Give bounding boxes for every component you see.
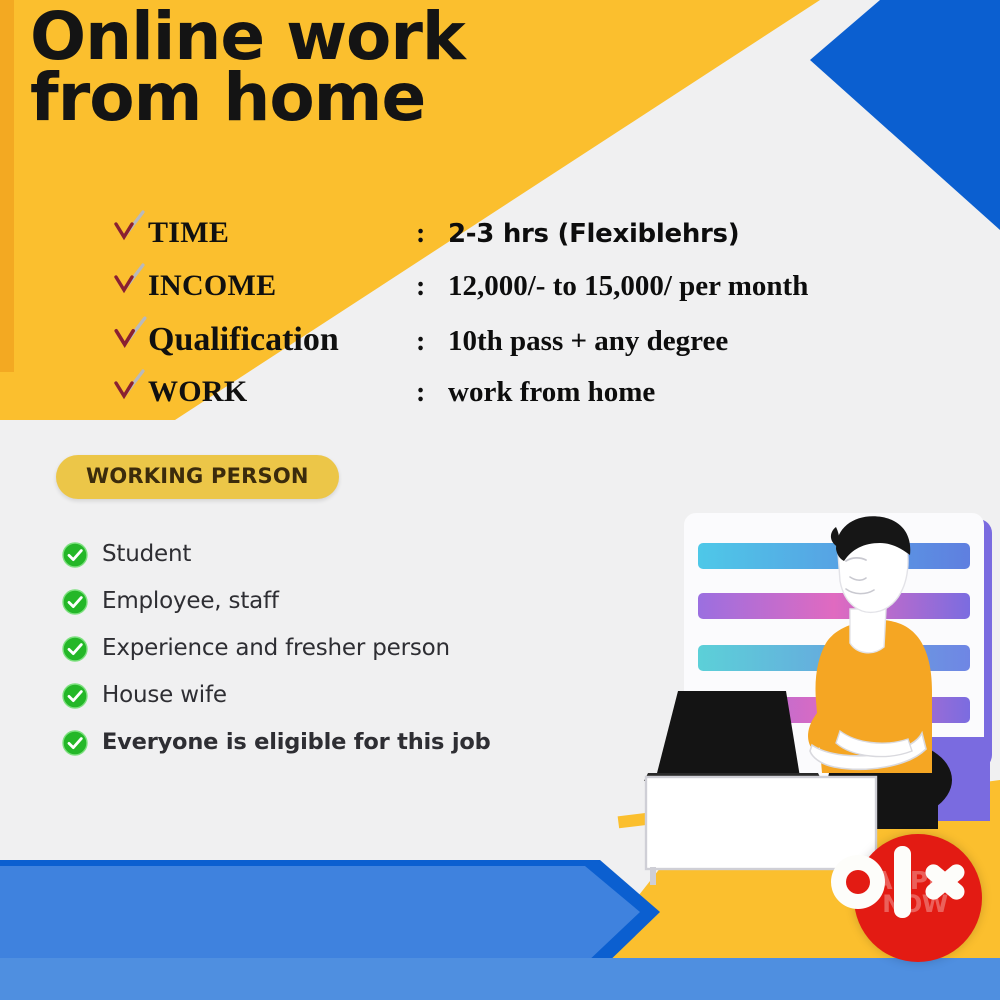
green-check-circle-icon: [62, 730, 88, 756]
detail-row-work: WORK : work from home: [112, 367, 992, 420]
green-check-circle-icon: [62, 683, 88, 709]
list-item: Everyone is eligible for this job: [62, 718, 491, 765]
page-title-line-2: from home: [30, 67, 650, 128]
detail-label: Qualification: [148, 321, 416, 359]
job-details-list: TIME : 2-3 hrs (Flexiblehrs) INCOME : 12…: [112, 208, 992, 420]
list-item: Employee, staff: [62, 577, 491, 624]
list-item: Experience and fresher person: [62, 624, 491, 671]
check-icon: [112, 263, 148, 297]
list-item: Student: [62, 530, 491, 577]
page-title: Online work from home: [30, 6, 650, 129]
detail-value: 2-3 hrs (Flexiblehrs): [448, 219, 739, 249]
detail-value: 12,000/- to 15,000/ per month: [448, 270, 808, 303]
detail-label: INCOME: [148, 269, 416, 303]
detail-label: TIME: [148, 216, 416, 250]
list-item: House wife: [62, 671, 491, 718]
list-item-label: Employee, staff: [102, 588, 279, 614]
detail-label: WORK: [148, 375, 416, 409]
green-check-circle-icon: [62, 542, 88, 568]
background-blue-bottom-strip: [0, 958, 1000, 1000]
detail-colon: :: [416, 326, 448, 358]
check-icon: [112, 369, 148, 403]
olx-logo-mark: [826, 842, 976, 922]
list-item-label: Student: [102, 541, 191, 567]
green-check-circle-icon: [62, 589, 88, 615]
detail-colon: :: [416, 377, 448, 409]
list-item-label: Everyone is eligible for this job: [102, 729, 491, 755]
check-icon: [112, 316, 148, 352]
detail-row-income: INCOME : 12,000/- to 15,000/ per month: [112, 261, 992, 314]
background-yellow-edge-strip: [0, 0, 14, 372]
detail-colon: :: [416, 271, 448, 303]
working-person-badge: WORKING PERSON: [56, 455, 339, 499]
list-item-label: Experience and fresher person: [102, 635, 450, 661]
detail-colon: :: [416, 218, 448, 250]
green-check-circle-icon: [62, 636, 88, 662]
list-item-label: House wife: [102, 682, 227, 708]
background-blue-banner-inner: [0, 866, 640, 964]
detail-value: 10th pass + any degree: [448, 325, 728, 358]
poster-canvas: Online work from home TIME : 2-3 hrs (Fl…: [0, 0, 1000, 1000]
background-blue-chevron-top-right: [810, 0, 1000, 235]
olx-watermark: APPLY NOW: [830, 810, 982, 962]
detail-row-time: TIME : 2-3 hrs (Flexiblehrs): [112, 208, 992, 261]
detail-row-qualification: Qualification : 10th pass + any degree: [112, 314, 992, 367]
detail-value: work from home: [448, 376, 655, 409]
eligibility-list: Student Employee, staff Experience a: [62, 530, 491, 765]
check-icon: [112, 210, 148, 244]
